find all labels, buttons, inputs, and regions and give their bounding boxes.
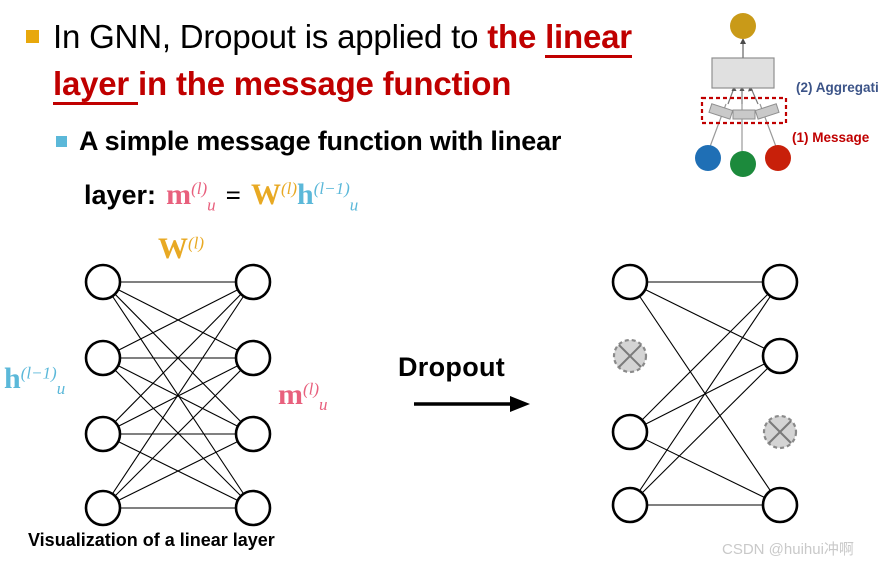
input-vector-sup: (l−1)	[21, 364, 57, 383]
formula-w-term: W(l)	[251, 178, 297, 212]
network-left-edges	[103, 282, 253, 508]
message-function-formula: layer: m(l)u = W(l) h(l−1)u	[84, 178, 358, 215]
slide-canvas: In GNN, Dropout is applied to the linear…	[0, 0, 886, 566]
message-aggregation-diagram: (2) Aggregati (1) Message	[676, 12, 886, 190]
formula-w-var: W	[251, 178, 281, 211]
leaf-node-blue	[695, 145, 721, 171]
network-right-edges	[630, 282, 780, 505]
node-right-3	[236, 417, 270, 451]
node-left-3	[86, 417, 120, 451]
node-right-2	[236, 341, 270, 375]
node-left-3	[613, 415, 647, 449]
blue-square-bullet-icon	[56, 136, 67, 147]
message-bar-right	[755, 104, 779, 119]
formula-m-sup: (l)	[191, 179, 207, 198]
linear-layer-caption: Visualization of a linear layer	[28, 530, 275, 551]
mini-diagram-svg	[676, 12, 886, 190]
node-right-1	[763, 265, 797, 299]
dropout-transition-label: Dropout	[398, 352, 505, 383]
bullet-1-text: In GNN, Dropout is applied to the linear…	[53, 14, 686, 108]
network-right-svg	[580, 250, 870, 540]
node-right-4	[763, 488, 797, 522]
node-right-2	[763, 339, 797, 373]
formula-h-var: h	[297, 178, 314, 211]
bullet-1-plain: In GNN, Dropout is applied to	[53, 18, 487, 55]
network-diagram-dropout	[580, 250, 870, 540]
bullet-1-emph-rest: in the message function	[138, 65, 511, 102]
csdn-watermark: CSDN @huihui冲啊	[722, 538, 854, 559]
formula-h-sub: u	[350, 195, 359, 214]
leaf-node-green	[730, 151, 756, 177]
formula-h-sup: (l−1)	[314, 179, 350, 198]
dropped-node-right-3	[764, 416, 796, 448]
formula-m-var: m	[166, 178, 191, 211]
message-bar-middle	[733, 110, 755, 119]
node-left-1	[613, 265, 647, 299]
aggregation-label: (2) Aggregati	[796, 80, 879, 95]
bullet-2-text: A simple message function with linear	[79, 122, 561, 161]
dropped-node-left-2	[614, 340, 646, 372]
network-diagram-full	[60, 250, 350, 540]
input-vector-label: h(l−1)u	[4, 362, 65, 399]
dropout-arrow-icon	[412, 392, 532, 416]
node-left-4	[86, 491, 120, 525]
bullet-1-emph-the: the	[487, 18, 545, 55]
aggregation-box	[712, 58, 774, 88]
bullet-2: A simple message function with linear	[56, 122, 696, 161]
bullet-1: In GNN, Dropout is applied to the linear…	[26, 14, 686, 108]
gold-square-bullet-icon	[26, 30, 39, 43]
node-left-2	[86, 341, 120, 375]
input-vector-var: h	[4, 362, 21, 395]
node-right-1	[236, 265, 270, 299]
node-left-4	[613, 488, 647, 522]
root-node-gold	[730, 13, 756, 39]
formula-w-sup: (l)	[281, 179, 297, 198]
formula-prefix: layer:	[84, 180, 156, 211]
leaf-node-red	[765, 145, 791, 171]
formula-m-term: m(l)u	[166, 178, 216, 215]
formula-equals: =	[226, 180, 241, 211]
network-left-svg	[60, 250, 350, 540]
node-left-1	[86, 265, 120, 299]
node-right-4	[236, 491, 270, 525]
formula-h-term: h(l−1)u	[297, 178, 358, 215]
message-label: (1) Message	[792, 130, 869, 145]
formula-m-sub: u	[207, 195, 216, 214]
